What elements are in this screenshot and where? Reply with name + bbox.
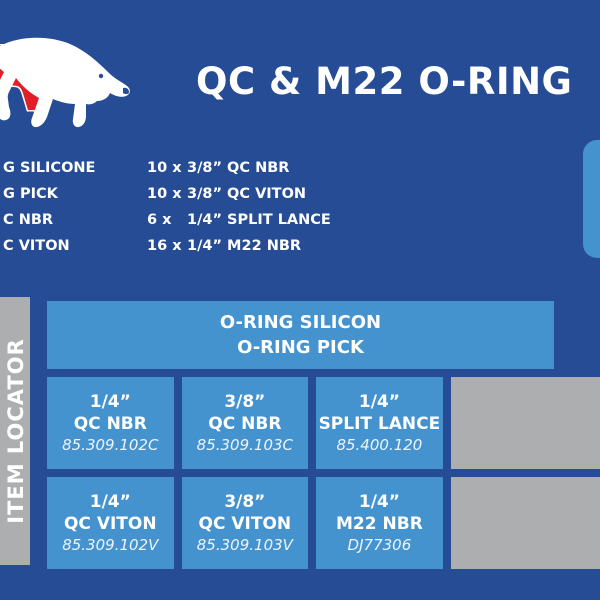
accent-block-right — [583, 140, 600, 258]
item-locator-row: 1/4”QC VITON85.309.102V3/8”QC VITON85.30… — [47, 477, 600, 569]
item-locator-cell-empty — [451, 377, 600, 469]
includes-row: C NBR6 x1/4” SPLIT LANCE — [0, 212, 367, 238]
item-cell-code: 85.309.103C — [197, 435, 293, 456]
item-cell-name: QC VITON — [199, 513, 292, 535]
item-cell-size: 1/4” — [359, 491, 400, 513]
includes-desc-right: 1/4” M22 NBR — [187, 238, 367, 264]
item-locator-row: 1/4”QC NBR85.309.102C3/8”QC NBR85.309.10… — [47, 377, 600, 469]
banner-line-1: O-RING SILICON — [220, 310, 381, 335]
includes-desc-right: 3/8” QC NBR — [187, 160, 367, 186]
item-cell-size: 3/8” — [224, 391, 265, 413]
includes-desc-left: C NBR — [3, 212, 147, 238]
item-cell-name: SPLIT LANCE — [319, 413, 441, 435]
includes-qty-right: 16 x — [147, 238, 187, 264]
includes-qty-right: 10 x — [147, 160, 187, 186]
item-cell-size: 1/4” — [90, 391, 131, 413]
includes-list: G SILICONE10 x3/8” QC NBRG PICK10 x3/8” … — [0, 160, 367, 264]
polar-bear-icon — [0, 32, 132, 136]
item-cell-name: M22 NBR — [336, 513, 423, 535]
includes-qty-right: 10 x — [147, 186, 187, 212]
item-cell-size: 1/4” — [90, 491, 131, 513]
item-cell-name: QC VITON — [64, 513, 157, 535]
item-cell-code: 85.309.103V — [197, 535, 293, 556]
item-locator-cell[interactable]: 1/4”SPLIT LANCE85.400.120 — [316, 377, 443, 469]
includes-qty-right: 6 x — [147, 212, 187, 238]
item-cell-code: 85.309.102V — [62, 535, 158, 556]
item-cell-code: 85.309.102C — [62, 435, 158, 456]
includes-list-body: G SILICONE10 x3/8” QC NBRG PICK10 x3/8” … — [0, 160, 367, 264]
includes-row: C VITON16 x1/4” M22 NBR — [0, 238, 367, 264]
item-cell-size: 3/8” — [224, 491, 265, 513]
item-locator-grid: O-RING SILICON O-RING PICK 1/4”QC NBR85.… — [47, 301, 600, 569]
banner-line-2: O-RING PICK — [237, 335, 364, 360]
brand-logo: AR — [0, 28, 192, 140]
item-locator-cell[interactable]: 1/4”QC NBR85.309.102C — [47, 377, 174, 469]
item-locator-banner: O-RING SILICON O-RING PICK — [47, 301, 554, 369]
includes-desc-left: C VITON — [3, 238, 147, 264]
includes-desc-left: G PICK — [3, 186, 147, 212]
item-cell-name: QC NBR — [74, 413, 147, 435]
item-cell-code: DJ77306 — [348, 535, 412, 556]
includes-desc-right: 3/8” QC VITON — [187, 186, 367, 212]
item-locator-cell-empty — [451, 477, 600, 569]
item-locator-cell[interactable]: 1/4”M22 NBRDJ77306 — [316, 477, 443, 569]
includes-row: G SILICONE10 x3/8” QC NBR — [0, 160, 367, 186]
item-locator-rows: 1/4”QC NBR85.309.102C3/8”QC NBR85.309.10… — [47, 377, 600, 569]
item-locator-cell[interactable]: 1/4”QC VITON85.309.102V — [47, 477, 174, 569]
page-title: QC & M22 O-RING — [196, 60, 572, 104]
item-locator-rail: ITEM LOCATOR — [0, 297, 30, 565]
poster-canvas: AR QC & M22 O-RING ES: G SILICONE10 x3/8… — [0, 0, 600, 600]
includes-desc-right: 1/4” SPLIT LANCE — [187, 212, 367, 238]
item-locator-rail-label: ITEM LOCATOR — [0, 297, 32, 565]
item-cell-size: 1/4” — [359, 391, 400, 413]
includes-row: G PICK10 x3/8” QC VITON — [0, 186, 367, 212]
item-cell-code: 85.400.120 — [336, 435, 422, 456]
includes-desc-left: G SILICONE — [3, 160, 147, 186]
item-locator-cell[interactable]: 3/8”QC NBR85.309.103C — [182, 377, 309, 469]
item-locator-cell[interactable]: 3/8”QC VITON85.309.103V — [182, 477, 309, 569]
item-cell-name: QC NBR — [208, 413, 281, 435]
